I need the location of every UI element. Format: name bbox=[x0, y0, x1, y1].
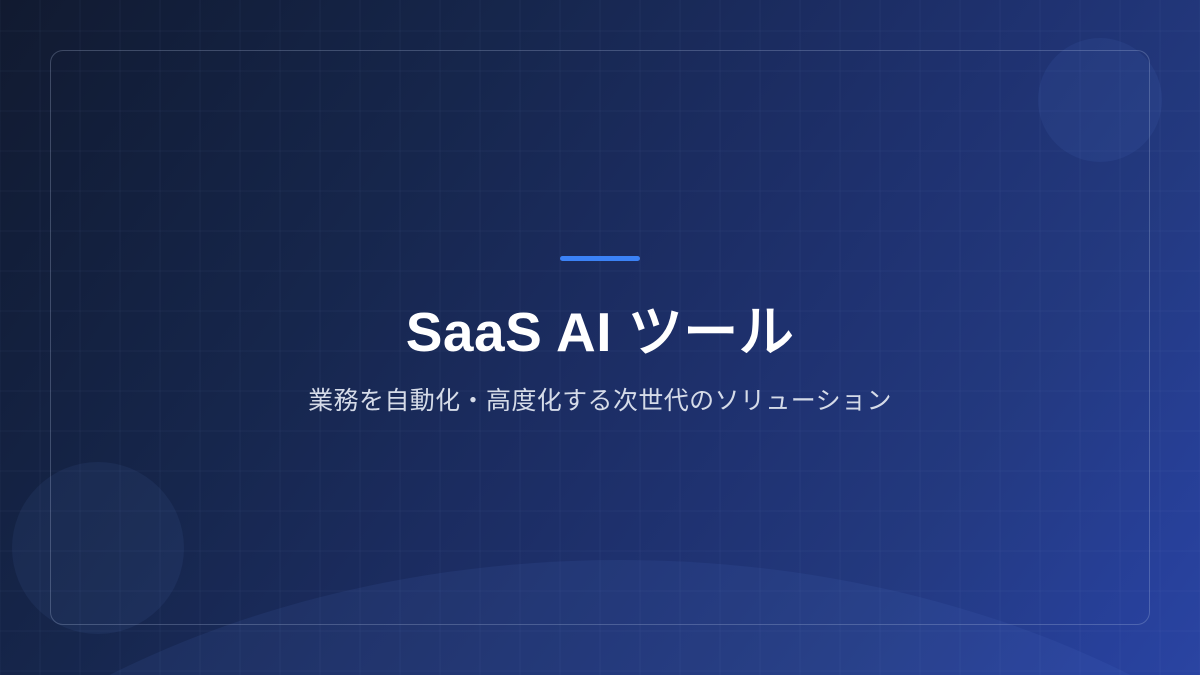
slide-content: SaaS AI ツール 業務を自動化・高度化する次世代のソリューション bbox=[0, 0, 1200, 675]
page-subtitle: 業務を自動化・高度化する次世代のソリューション bbox=[308, 385, 892, 419]
title-slide: SaaS AI ツール 業務を自動化・高度化する次世代のソリューション bbox=[0, 0, 1200, 675]
accent-bar bbox=[560, 256, 640, 261]
page-title: SaaS AI ツール bbox=[406, 302, 795, 363]
